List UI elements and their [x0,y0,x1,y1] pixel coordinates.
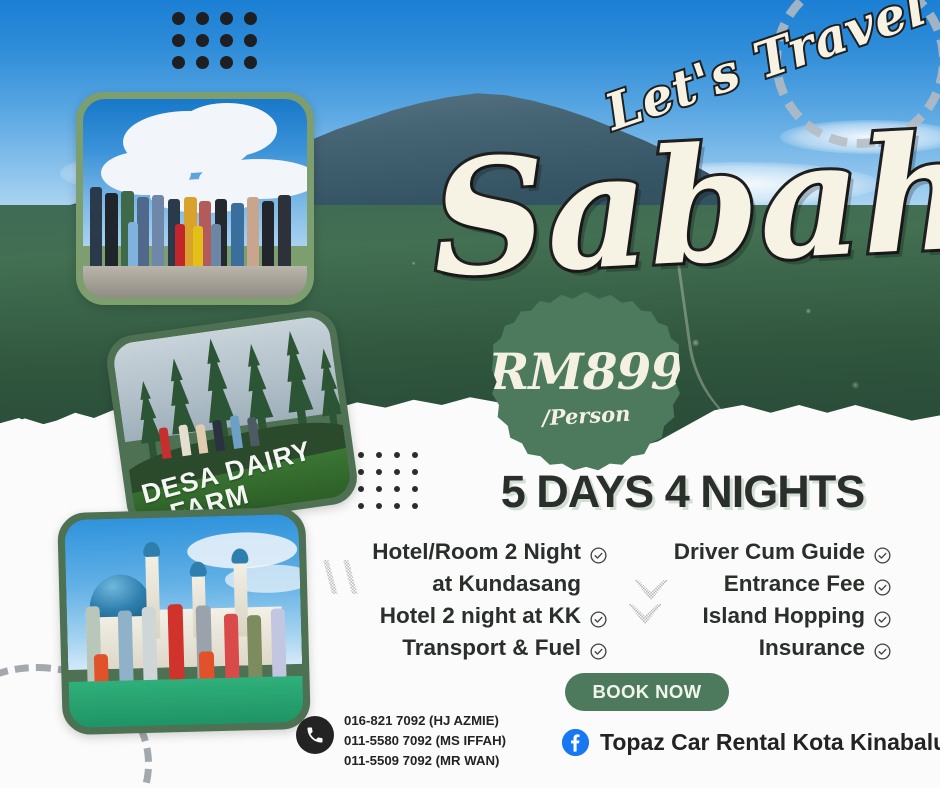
features-column-right: Driver Cum GuideEntrance FeeIsland Hoppi… [630,536,892,664]
feature-label: Driver Cum Guide [674,536,865,568]
feature-row: Hotel 2 night at KK [318,600,608,632]
dot-grid-middle [358,452,420,508]
price-per-person: /Person [541,400,631,430]
feature-row: Island Hopping [630,600,892,632]
photo-card-city-mosque [57,507,311,735]
check-circle-icon [873,574,892,593]
travel-poster: DESA DAIRY FARM Let's Trave [0,0,940,788]
photo-inner: DESA DAIRY FARM [111,315,352,526]
facebook-page-block[interactable]: Topaz Car Rental Kota Kinabalu [562,729,940,756]
feature-label: Insurance [759,632,865,664]
dot-grid-top-left [172,12,260,68]
photo-inner [83,99,307,298]
destination-title: Sabah [428,114,940,300]
check-circle-icon [873,606,892,625]
feature-row: Hotel/Room 2 Night [318,536,608,568]
feature-label: at Kundasang [432,568,581,600]
photo-inner [64,514,303,728]
feature-label: Transport & Fuel [402,632,581,664]
phone-number: 011-5509 7092 (MR WAN) [344,751,506,771]
check-circle-icon [589,606,608,625]
price-amount: RM899 [488,347,684,397]
feature-row: Entrance Fee [630,568,892,600]
facebook-icon [562,729,589,756]
feature-row: at Kundasang [318,568,608,600]
feature-label: Hotel/Room 2 Night [372,536,581,568]
feature-row: Insurance [630,632,892,664]
feature-label: Island Hopping [703,600,866,632]
photo-card-desa-dairy-farm: DESA DAIRY FARM [103,307,360,533]
photo3-deck [69,676,304,728]
phone-icon [296,716,334,754]
facebook-page-name: Topaz Car Rental Kota Kinabalu [600,729,940,756]
check-circle-icon [873,542,892,561]
phone-number: 016-821 7092 (HJ AZMIE) [344,711,506,731]
check-circle-icon [589,638,608,657]
feature-label: Entrance Fee [724,568,865,600]
features-column-left: Hotel/Room 2 Nightat KundasangHotel 2 ni… [318,536,608,664]
feature-label: Hotel 2 night at KK [380,600,581,632]
feature-row: Driver Cum Guide [630,536,892,568]
check-circle-icon [589,542,608,561]
feature-row: Transport & Fuel [318,632,608,664]
photo-card-group-hill [76,92,314,305]
check-circle-icon [873,638,892,657]
phone-number-list: 016-821 7092 (HJ AZMIE)011-5580 7092 (MS… [344,711,506,771]
phone-number: 011-5580 7092 (MS IFFAH) [344,731,506,751]
photo1-ground [83,266,307,298]
duration-heading: 5 DAYS 4 NIGHTS [455,466,910,518]
book-now-button[interactable]: BOOK NOW [565,673,729,711]
